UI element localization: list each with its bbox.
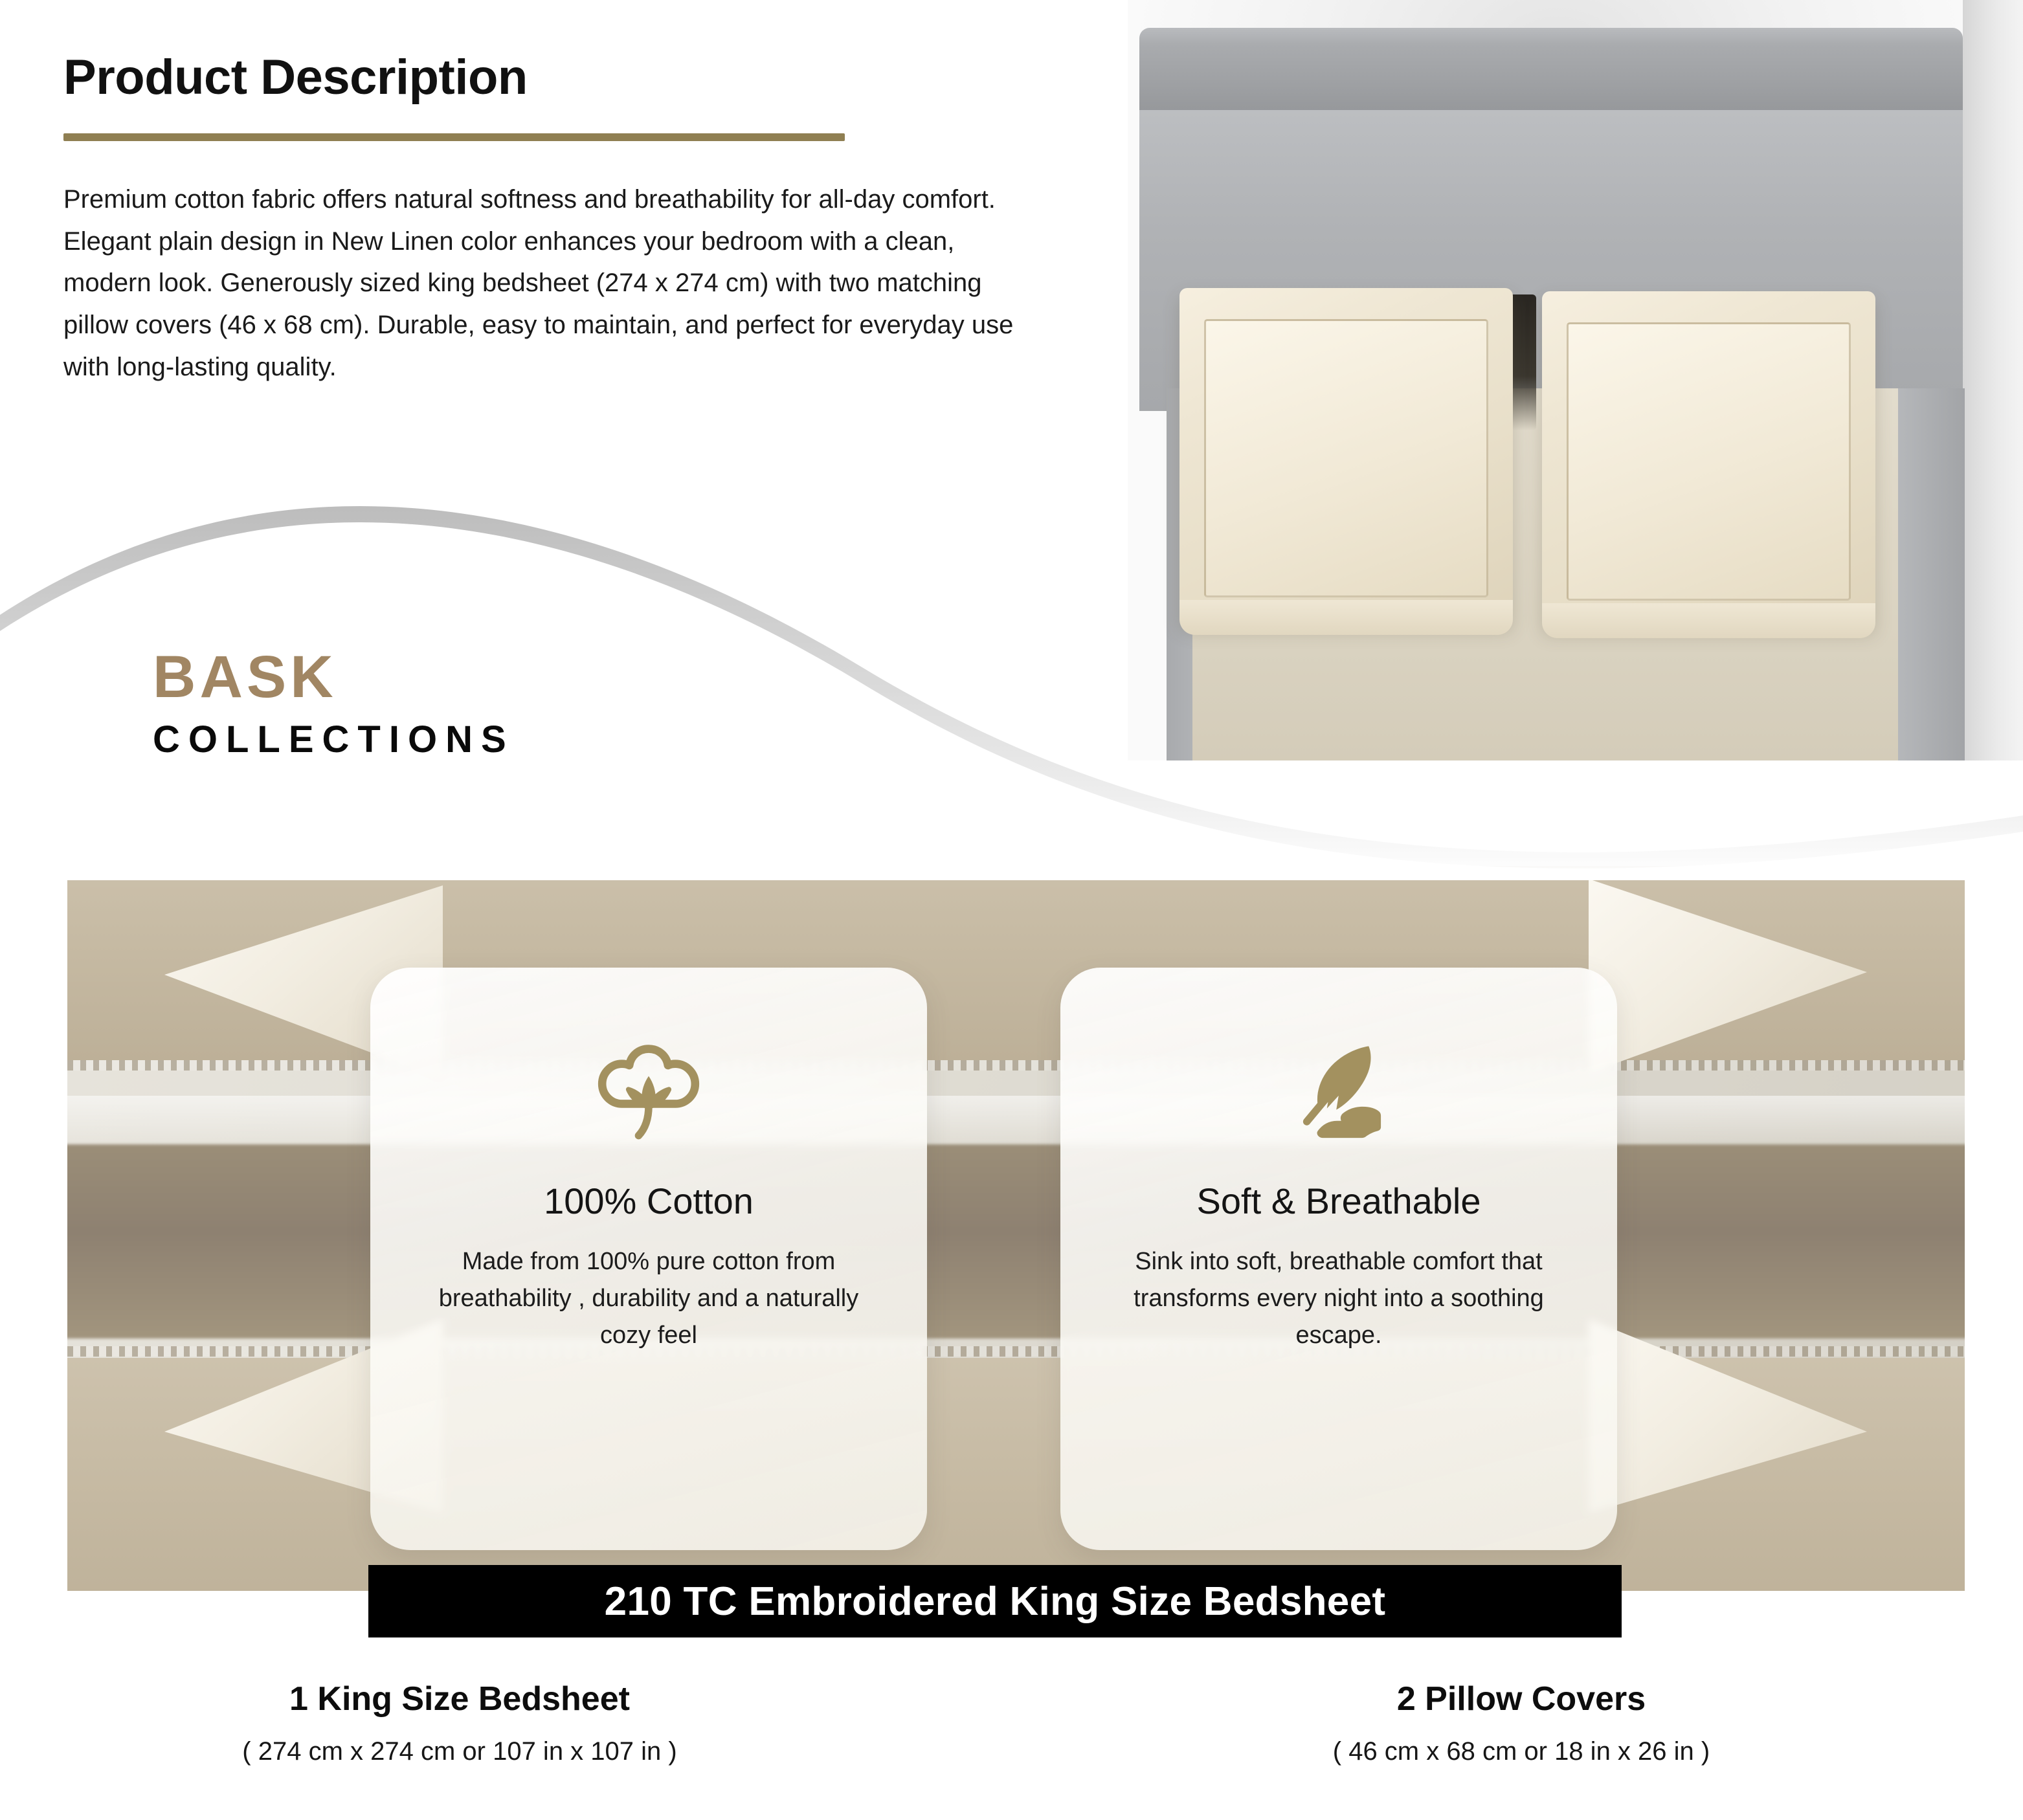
pillow-hem-stitching-bottom — [67, 1346, 1965, 1357]
feature-card-text: Sink into soft, breathable comfort that … — [1115, 1243, 1562, 1354]
pillow-cover-right — [1542, 291, 1875, 628]
product-description-block: Product Description Premium cotton fabri… — [63, 52, 1047, 414]
feature-card-title: 100% Cotton — [544, 1181, 754, 1221]
cotton-boll-icon — [581, 1021, 717, 1170]
spec-title: 1 King Size Bedsheet — [104, 1680, 816, 1719]
product-name-banner: 210 TC Embroidered King Size Bedsheet — [368, 1565, 1622, 1637]
pillow-cover-left — [1179, 288, 1513, 625]
brand-logo: BASK COLLECTIONS — [153, 647, 515, 759]
feature-card-soft-breathable: Soft & Breathable Sink into soft, breath… — [1060, 968, 1617, 1550]
page-title: Product Description — [63, 52, 1047, 104]
feather-in-hand-icon — [1271, 1021, 1407, 1170]
pillow-stitch-border — [1204, 319, 1488, 597]
pillow-hem-stitching-top — [67, 1060, 1965, 1071]
feature-card-text: Made from 100% pure cotton from breathab… — [425, 1243, 872, 1354]
bed-frame-right — [1888, 388, 1965, 760]
headboard-top — [1139, 28, 1963, 124]
fabric-sheen — [67, 1096, 1965, 1148]
product-name-banner-text: 210 TC Embroidered King Size Bedsheet — [605, 1579, 1386, 1625]
pillow-flap — [1542, 603, 1875, 638]
product-description-text: Premium cotton fabric offers natural sof… — [63, 179, 1047, 388]
title-divider-rule — [63, 133, 845, 141]
pillow-flap — [1179, 600, 1513, 635]
spec-dimensions: ( 46 cm x 68 cm or 18 in x 26 in ) — [1139, 1736, 1903, 1767]
brand-subtitle: COLLECTIONS — [153, 721, 515, 759]
spec-pillow-covers: 2 Pillow Covers ( 46 cm x 68 cm or 18 in… — [1139, 1680, 1903, 1767]
feature-card-title: Soft & Breathable — [1197, 1181, 1481, 1221]
brand-name: BASK — [153, 647, 515, 707]
spec-dimensions: ( 274 cm x 274 cm or 107 in x 107 in ) — [104, 1736, 816, 1767]
bed-right-rail — [1963, 0, 2023, 760]
hero-product-image — [1128, 0, 2023, 760]
spec-bedsheet: 1 King Size Bedsheet ( 274 cm x 274 cm o… — [104, 1680, 816, 1767]
spec-title: 2 Pillow Covers — [1139, 1680, 1903, 1719]
between-pillows-shadow — [67, 1144, 1965, 1338]
pillow-detail-photo — [67, 866, 1965, 1591]
feature-card-cotton: 100% Cotton Made from 100% pure cotton f… — [370, 968, 927, 1550]
pillow-stitch-border — [1567, 322, 1851, 601]
